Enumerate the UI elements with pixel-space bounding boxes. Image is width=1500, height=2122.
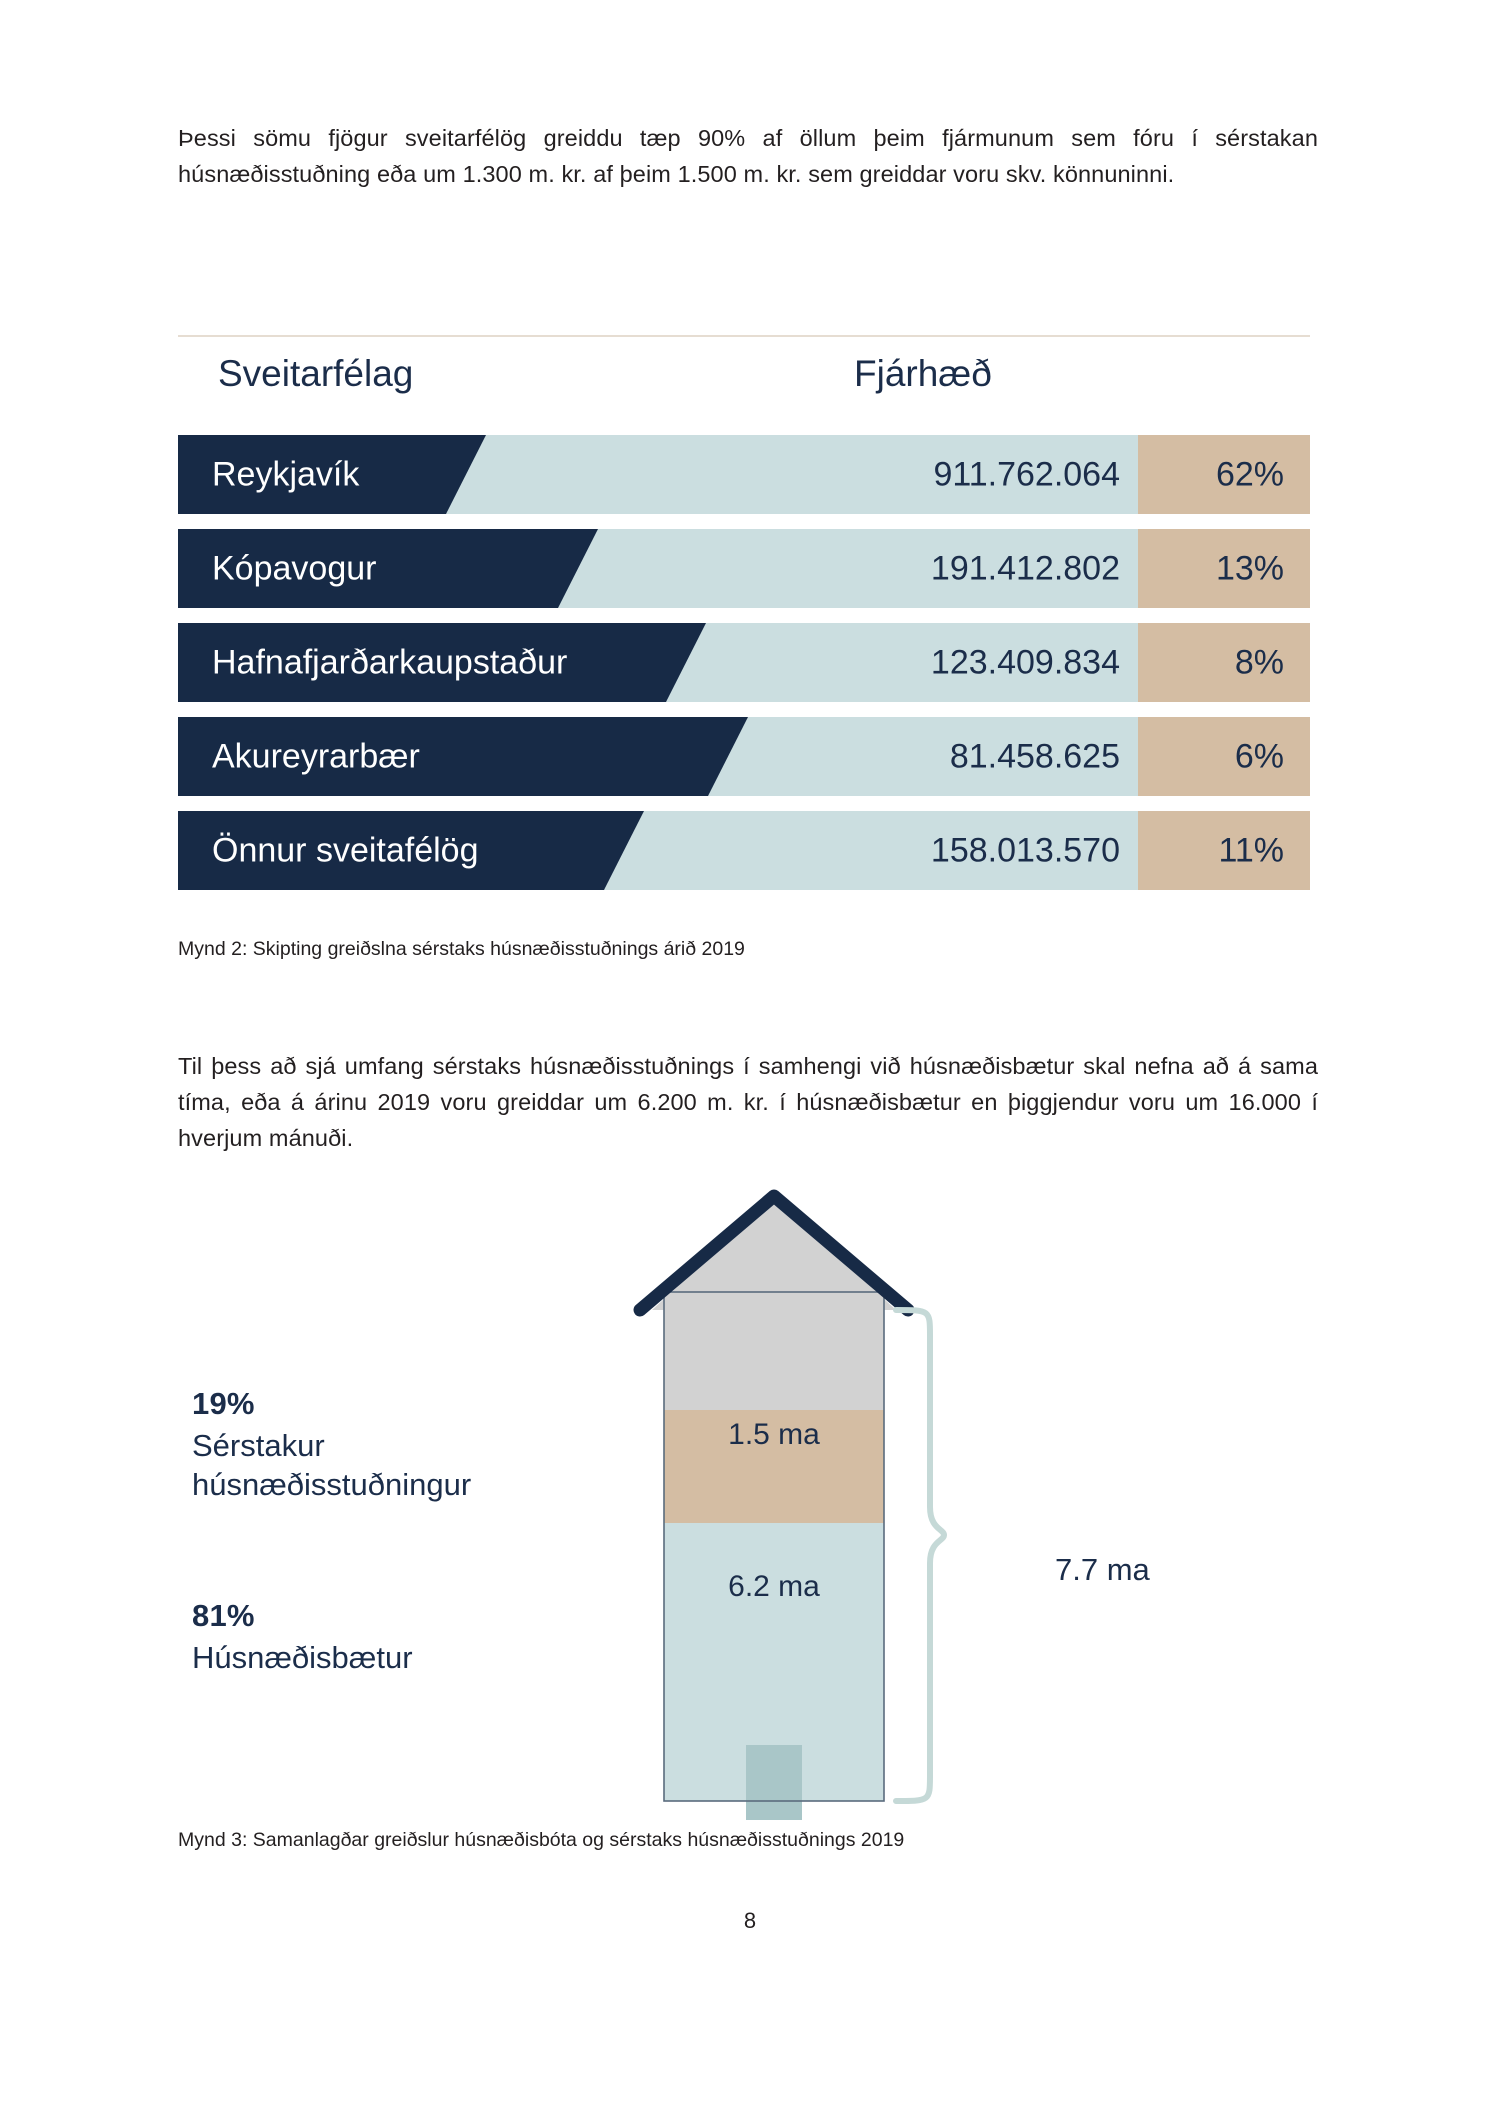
percent-cell: 13% (1138, 529, 1310, 608)
municipality-name: Kópavogur (212, 549, 376, 588)
total-brace (896, 1310, 944, 1801)
housing-benefit-value: 6.2 ma (664, 1570, 884, 1604)
municipality-bar: Reykjavík (178, 435, 486, 514)
legend-percent-benefit: 81% (192, 1598, 255, 1634)
percent-value: 11% (1218, 831, 1284, 870)
table-row[interactable]: 6% Akureyrarbær 81.458.625 (178, 717, 1310, 796)
percent-value: 62% (1216, 455, 1284, 494)
column-header-amount: Fjárhæð (854, 353, 992, 395)
municipality-bar: Kópavogur (178, 529, 598, 608)
roof-fill (652, 1198, 896, 1310)
column-header-municipality: Sveitarfélag (218, 353, 413, 395)
municipality-bar: Akureyrarbær (178, 717, 748, 796)
amount-value: 81.458.625 (950, 737, 1120, 776)
door-shape (746, 1745, 802, 1820)
percent-cell: 62% (1138, 435, 1310, 514)
intro-paragraph: Þessi sömu fjögur sveitarfélög greiddu t… (178, 120, 1318, 192)
total-value: 7.7 ma (1055, 1552, 1150, 1588)
legend-label-special-line2: húsnæðisstuðningur (192, 1465, 471, 1504)
municipality-name: Önnur sveitafélög (212, 831, 479, 870)
table-row[interactable]: 8% Hafnafjarðarkaupstaður 123.409.834 (178, 623, 1310, 702)
percent-cell: 6% (1138, 717, 1310, 796)
percent-value: 13% (1216, 549, 1284, 588)
table-row[interactable]: 13% Kópavogur 191.412.802 (178, 529, 1310, 608)
amount-value: 911.762.064 (933, 455, 1120, 494)
legend-label-special: Sérstakur húsnæðisstuðningur (192, 1426, 471, 1504)
municipality-bar: Önnur sveitafélög (178, 811, 644, 890)
table-row[interactable]: 62% Reykjavík 911.762.064 (178, 435, 1310, 514)
municipality-name: Reykjavík (212, 455, 359, 494)
legend-label-special-line1: Sérstakur (192, 1426, 471, 1465)
municipality-name: Akureyrarbær (212, 737, 420, 776)
figure-2-caption: Mynd 2: Skipting greiðslna sérstaks húsn… (178, 935, 745, 963)
amount-value: 158.013.570 (931, 831, 1120, 870)
page-number: 8 (0, 1908, 1500, 1934)
table-top-divider (178, 335, 1310, 337)
figure-3-house-diagram: 19% Sérstakur húsnæðisstuðningur 81% Hús… (178, 1180, 1318, 1820)
legend-label-benefit: Húsnæðisbætur (192, 1638, 413, 1677)
table-row[interactable]: 11% Önnur sveitafélög 158.013.570 (178, 811, 1310, 890)
municipality-name: Hafnafjarðarkaupstaður (212, 643, 567, 682)
figure-3-caption: Mynd 3: Samanlagðar greiðslur húsnæðisbó… (178, 1826, 904, 1854)
amount-value: 123.409.834 (931, 643, 1120, 682)
percent-value: 8% (1235, 643, 1284, 682)
special-support-value: 1.5 ma (664, 1418, 884, 1452)
municipality-bar: Hafnafjarðarkaupstaður (178, 623, 706, 702)
legend-percent-special: 19% (192, 1386, 255, 1422)
percent-cell: 8% (1138, 623, 1310, 702)
percent-cell: 11% (1138, 811, 1310, 890)
context-paragraph: Til þess að sjá umfang sérstaks húsnæðis… (178, 1048, 1318, 1156)
percent-value: 6% (1235, 737, 1284, 776)
amount-value: 191.412.802 (931, 549, 1120, 588)
